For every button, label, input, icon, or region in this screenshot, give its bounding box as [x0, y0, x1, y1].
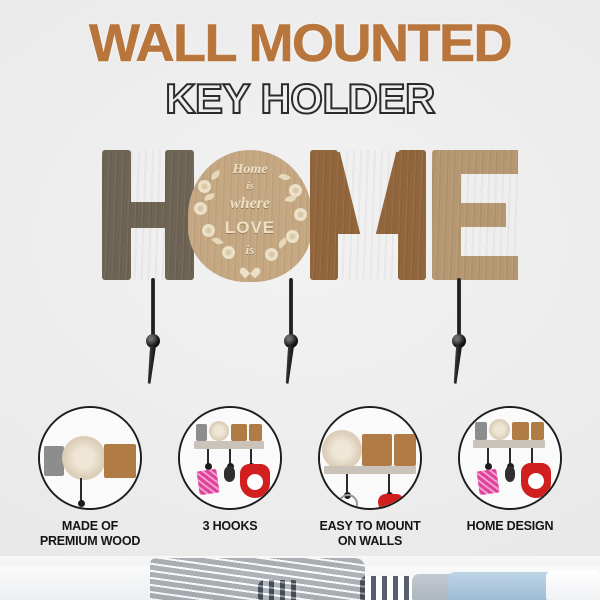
lifestyle-photo-strip — [0, 556, 600, 600]
feature-badges-row: MADE OF PREMIUM WOOD — [0, 404, 600, 554]
badge-image-4 — [458, 406, 562, 510]
knit-throw-blanket — [150, 558, 365, 600]
feature-badge-home-design: HOME DESIGN — [435, 404, 585, 534]
badge-caption-1-line-2: PREMIUM WOOD — [15, 534, 165, 549]
page-subtitle: KEY HOLDER — [0, 76, 600, 122]
feature-badge-made-of-premium-wood: MADE OF PREMIUM WOOD — [15, 404, 165, 549]
letter-h — [102, 150, 194, 280]
badge-caption-3-line-2: ON WALLS — [295, 534, 445, 549]
badge-caption-2-line-1: 3 HOOKS — [155, 519, 305, 534]
badge-caption-1-line-1: MADE OF — [15, 519, 165, 534]
letter-m — [310, 150, 426, 280]
feature-badge-easy-to-mount-on-walls: EASY TO MOUNT ON WALLS — [295, 404, 445, 549]
header-block: WALL MOUNTED KEY HOLDER — [0, 16, 600, 122]
badge-caption-3-line-1: EASY TO MOUNT — [295, 519, 445, 534]
wreath-line-4: LOVE — [188, 218, 312, 238]
letter-o-disc: Home is where LOVE is — [188, 150, 312, 282]
wreath-line-5: is — [188, 242, 312, 258]
feature-badge-3-hooks: 3 HOOKS — [155, 404, 305, 534]
heart-icon — [244, 266, 256, 277]
wreath-line-3: where — [188, 195, 312, 213]
product-listing-image: WALL MOUNTED KEY HOLDER — [0, 0, 600, 600]
badge-caption-4-line-1: HOME DESIGN — [435, 519, 585, 534]
badge-image-3 — [318, 406, 422, 510]
badge-image-1 — [38, 406, 142, 510]
letter-e — [432, 150, 518, 280]
wreath-line-2: is — [188, 180, 312, 192]
wreath-line-1: Home — [188, 162, 312, 178]
home-letters-group: Home is where LOVE is — [88, 150, 538, 285]
page-title: WALL MOUNTED — [0, 16, 600, 72]
hero-product-image: Home is where LOVE is — [0, 150, 600, 400]
badge-image-2 — [178, 406, 282, 510]
